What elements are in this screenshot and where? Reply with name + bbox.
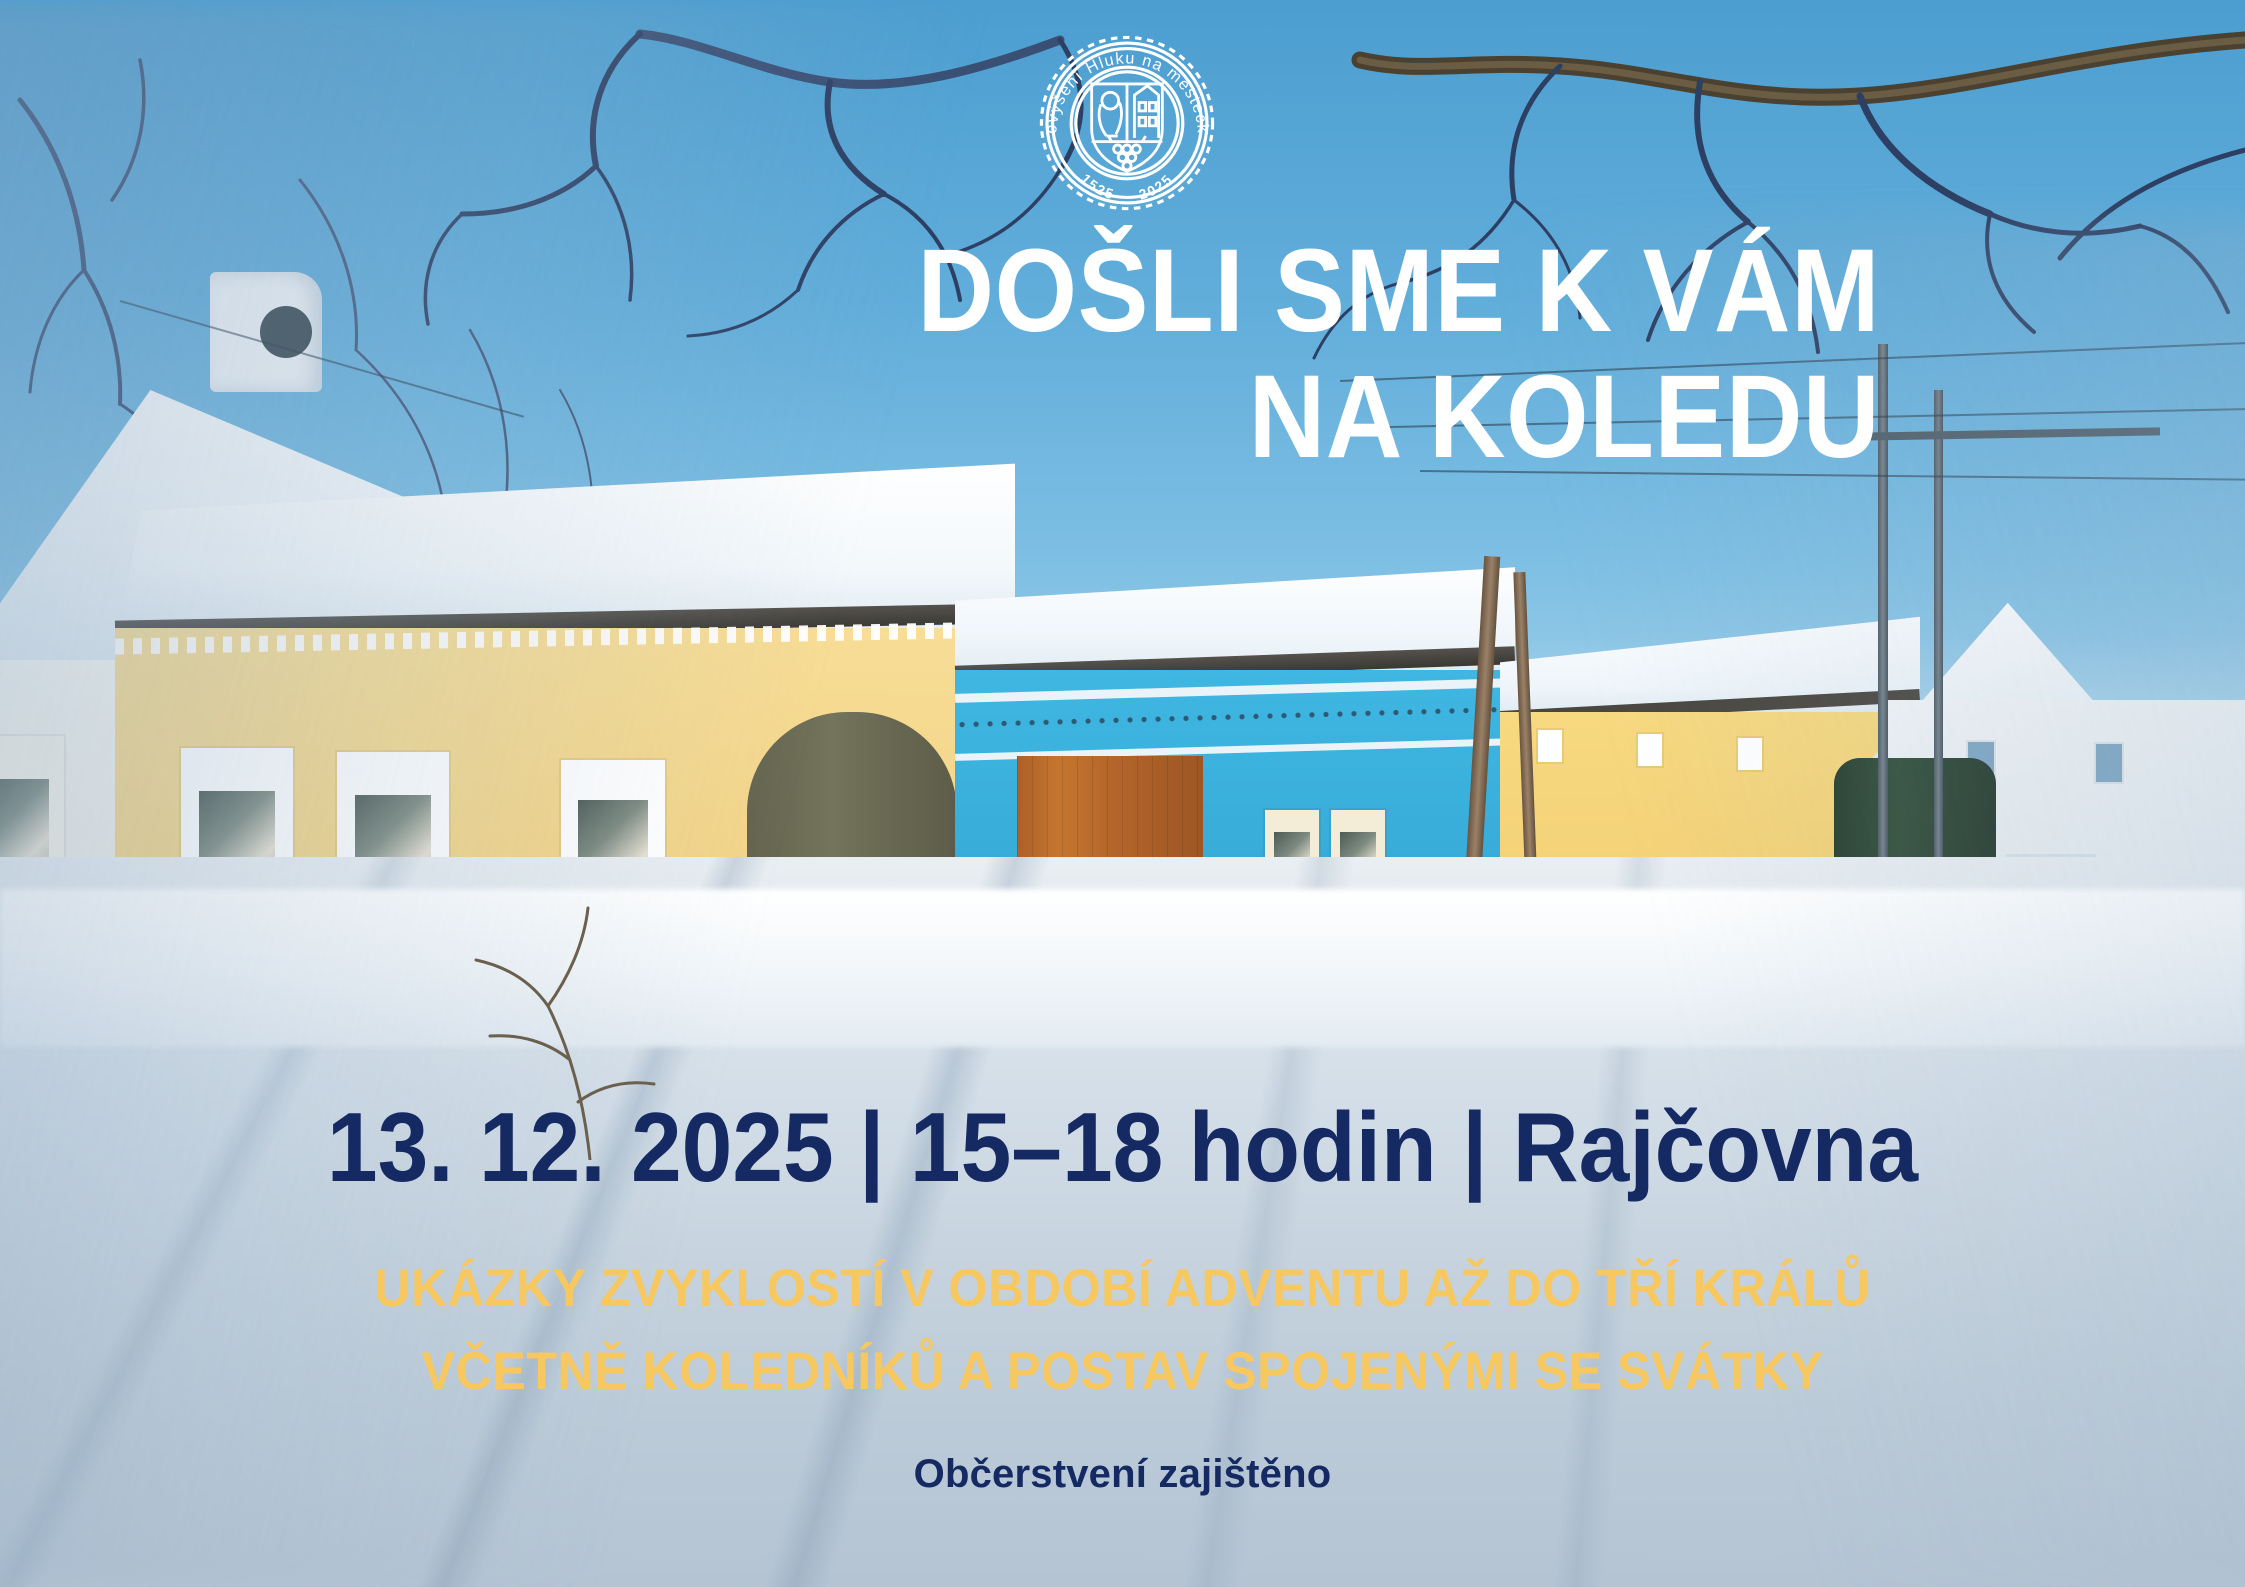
subtitle-line-1: UKÁZKY ZVYKLOSTÍ V OBDOBÍ ADVENTU AŽ DO … [56,1262,2189,1315]
event-venue: Rajčovna [1513,1092,1918,1202]
town-seal-logo: povýšení Hluku na městečko 1525 — 2025 [1034,28,1220,218]
poster: povýšení Hluku na městečko 1525 — 2025 D… [0,0,2245,1587]
headline-line-1: DOŠLI SME K VÁM [917,225,1880,357]
page-title: DOŠLI SME K VÁM NA KOLEDU [188,228,1880,481]
detail-separator-1: | [859,1092,885,1202]
event-time: 15–18 hodin [910,1092,1437,1202]
subtitle-line-2: VČETNĚ KOLEDNÍKŮ A POSTAV SPOJENÝMI SE S… [56,1345,2189,1398]
refreshments-note: Občerstvení zajištěno [0,1452,2245,1497]
headline-line-2: NA KOLEDU [188,354,1880,480]
detail-separator-2: | [1462,1092,1488,1202]
event-details-line: 13. 12. 2025 | 15–18 hodin | Rajčovna [79,1098,2167,1196]
event-date: 13. 12. 2025 [327,1092,834,1202]
